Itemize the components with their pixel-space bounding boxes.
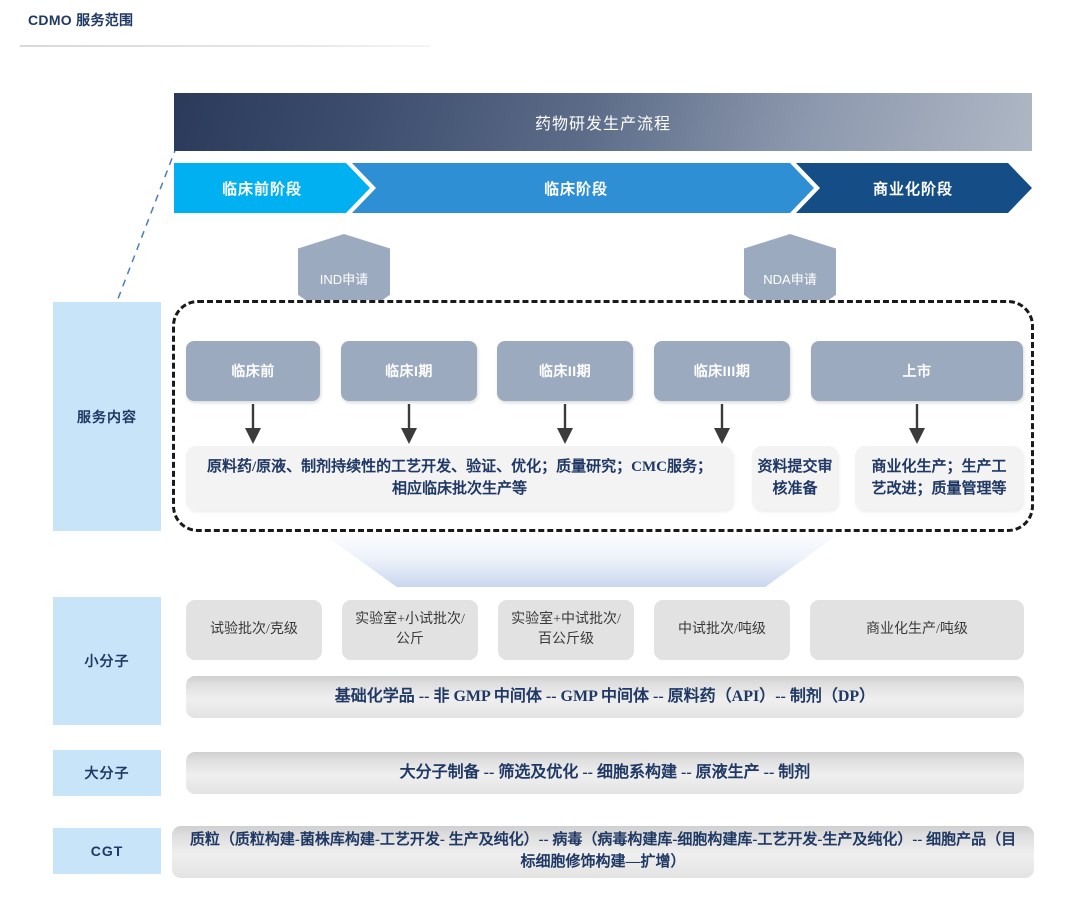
stage-preclinical[interactable]: 临床前阶段 xyxy=(174,163,370,213)
scale-box-pilot-ton: 中试批次/吨级 xyxy=(654,600,790,660)
service-description-commercial: 商业化生产；生产工艺改进；质量管理等 xyxy=(855,446,1023,510)
phase-box-market-launch[interactable]: 上市 xyxy=(811,341,1023,401)
stage-chevron-band: 临床前阶段 临床阶段 商业化阶段 xyxy=(174,163,1032,213)
milestone-ind-application[interactable]: IND申请 xyxy=(298,234,390,300)
stage-commercialization-label: 商业化阶段 xyxy=(796,178,1032,199)
down-arrow-icon xyxy=(711,404,733,446)
scale-box-commercial-ton: 商业化生产/吨级 xyxy=(810,600,1024,660)
rail-item-large-molecule: 大分子 xyxy=(53,750,161,796)
phase-box-clinical-1[interactable]: 临床I期 xyxy=(341,341,477,401)
down-arrow-icon xyxy=(554,404,576,446)
stage-commercialization[interactable]: 商业化阶段 xyxy=(796,163,1032,213)
page-title: CDMO 服务范围 xyxy=(28,10,133,30)
down-arrow-icon xyxy=(906,404,928,446)
stage-clinical[interactable]: 临床阶段 xyxy=(352,163,814,213)
rail-item-small-molecule: 小分子 xyxy=(53,597,161,725)
funnel-shape xyxy=(325,535,837,587)
summary-bar-cgt: 质粒（质粒构建-菌株库构建-工艺开发- 生产及纯化）-- 病毒（病毒构建库-细胞… xyxy=(172,826,1034,878)
process-header-label: 药物研发生产流程 xyxy=(535,110,671,134)
down-arrow-icon xyxy=(398,404,420,446)
phase-box-clinical-2[interactable]: 临床II期 xyxy=(497,341,633,401)
down-arrow-icon xyxy=(242,404,264,446)
service-description-main: 原料药/原液、制剂持续性的工艺开发、验证、优化；质量研究；CMC服务；相应临床批… xyxy=(186,446,733,510)
rail-item-service-content: 服务内容 xyxy=(53,302,161,531)
stage-preclinical-label: 临床前阶段 xyxy=(174,178,370,199)
process-header-banner: 药物研发生产流程 xyxy=(174,93,1032,151)
summary-bar-small-molecule: 基础化学品 -- 非 GMP 中间体 -- GMP 中间体 -- 原料药（API… xyxy=(186,676,1024,718)
phase-box-clinical-3[interactable]: 临床III期 xyxy=(654,341,790,401)
scale-box-lab-pilot-100kg: 实验室+中试批次/百公斤级 xyxy=(498,600,634,660)
rail-item-cgt: CGT xyxy=(53,828,161,874)
title-divider xyxy=(20,45,430,47)
scale-box-lab-pilot-kg: 实验室+小试批次/公斤 xyxy=(342,600,478,660)
scale-box-trial-batch: 试验批次/克级 xyxy=(186,600,322,660)
summary-bar-large-molecule: 大分子制备 -- 筛选及优化 -- 细胞系构建 -- 原液生产 -- 制剂 xyxy=(186,752,1024,794)
phase-box-preclinical[interactable]: 临床前 xyxy=(186,341,320,401)
stage-clinical-label: 临床阶段 xyxy=(352,178,814,199)
service-description-nda-prep: 资料提交审核准备 xyxy=(752,446,838,510)
milestone-nda-application[interactable]: NDA申请 xyxy=(744,234,836,300)
